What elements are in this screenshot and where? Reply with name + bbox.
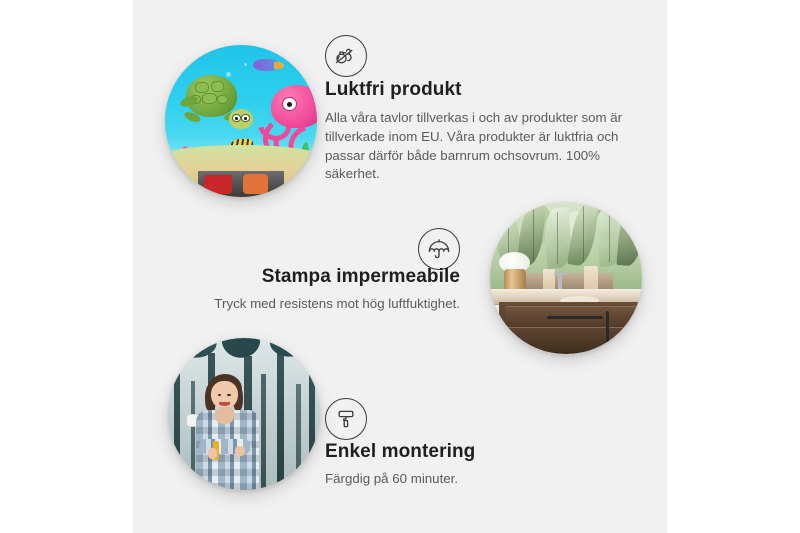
feature-3-body: Färgdig på 60 minuter.: [325, 470, 630, 489]
feature-2-body: Tryck med resistens mot hög luftfuktighe…: [155, 295, 460, 314]
forest-mural-art: [168, 338, 320, 490]
feature-1-body: Alla våra tavlor tillverkas i och av pro…: [325, 109, 630, 185]
underwater-illustration: [165, 45, 317, 197]
feature-3-heading: Enkel montering: [325, 440, 630, 464]
woman-figure: [189, 374, 274, 490]
umbrella-icon: [418, 228, 460, 270]
screenshot-root: Luktfri produkt Alla våra tavlor tillver…: [0, 0, 800, 533]
bathroom-photo-art: [490, 202, 642, 354]
bottom-frame-strip: [198, 171, 283, 197]
feature-3-text: Enkel montering Färgdig på 60 minuter.: [325, 440, 630, 488]
feature-3-icon-wrap: [325, 398, 367, 440]
feature-1-text: Luktfri produkt Alla våra tavlor tillver…: [325, 78, 630, 184]
paint-roller-icon: [325, 398, 367, 440]
wood-vanity: [499, 302, 642, 354]
feature-2-heading: Stampa impermeabile: [155, 265, 460, 289]
octopus-figure: [262, 85, 317, 155]
woman-paint-roller-forest-photo[interactable]: [168, 338, 320, 490]
underwater-kids-mural-photo[interactable]: [165, 45, 317, 197]
feature-2-icon-wrap: [418, 228, 460, 270]
feature-2-text: Stampa impermeabile Tryck med resistens …: [155, 265, 460, 313]
turtle-figure: [180, 75, 250, 130]
feature-1-heading: Luktfri produkt: [325, 78, 630, 102]
bathroom-leaf-wallpaper-photo[interactable]: [490, 202, 642, 354]
feature-1-icon-wrap: [325, 35, 367, 77]
feature-panel: Luktfri produkt Alla våra tavlor tillver…: [133, 0, 667, 533]
tile-splashback: [519, 273, 613, 288]
no-fragrance-icon: [325, 35, 367, 77]
